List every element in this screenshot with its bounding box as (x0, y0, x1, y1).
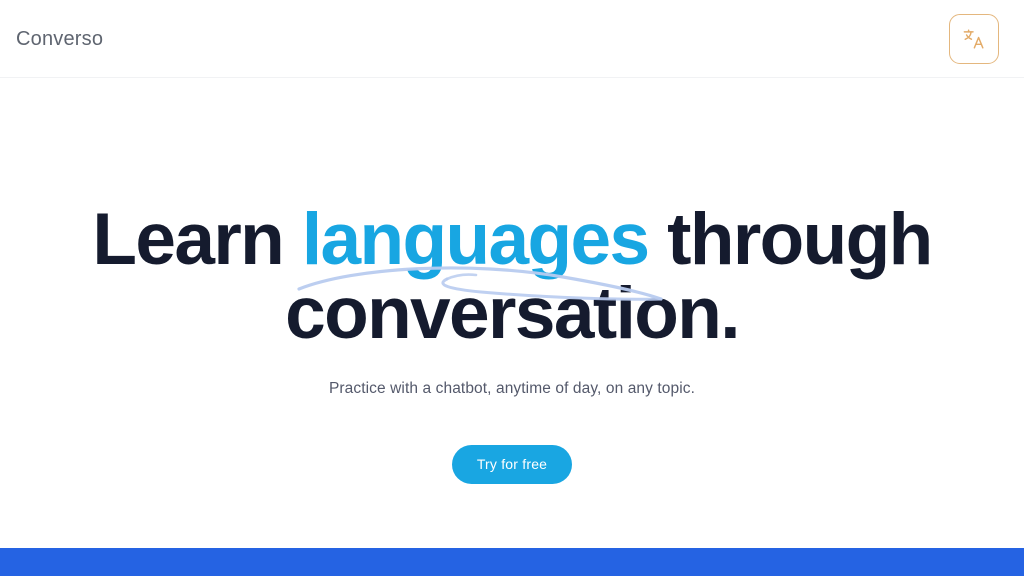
headline-line-2: conversation. (0, 277, 1024, 351)
brand-logo[interactable]: Converso (16, 0, 103, 78)
headline-line-1: Learn languages through (0, 203, 1024, 277)
page-title: Learn languages through conversation. (0, 203, 1024, 351)
hero-subtitle: Practice with a chatbot, anytime of day,… (0, 378, 1024, 400)
footer-color-band (0, 548, 1024, 576)
landing-page: Converso Learn languages through convers… (0, 0, 1024, 576)
hero-section: Learn languages through conversation. Pr… (0, 78, 1024, 548)
headline-accent-languages: languages (302, 199, 649, 280)
headline-text-learn: Learn (92, 199, 301, 280)
cta-wrapper: Try for free (0, 445, 1024, 484)
try-for-free-button[interactable]: Try for free (452, 445, 572, 484)
site-header: Converso (0, 0, 1024, 78)
language-switcher-button[interactable] (949, 14, 999, 64)
headline-wrapper: Learn languages through conversation. (0, 203, 1024, 351)
translate-icon (963, 28, 985, 50)
headline-text-through: through (648, 199, 931, 280)
